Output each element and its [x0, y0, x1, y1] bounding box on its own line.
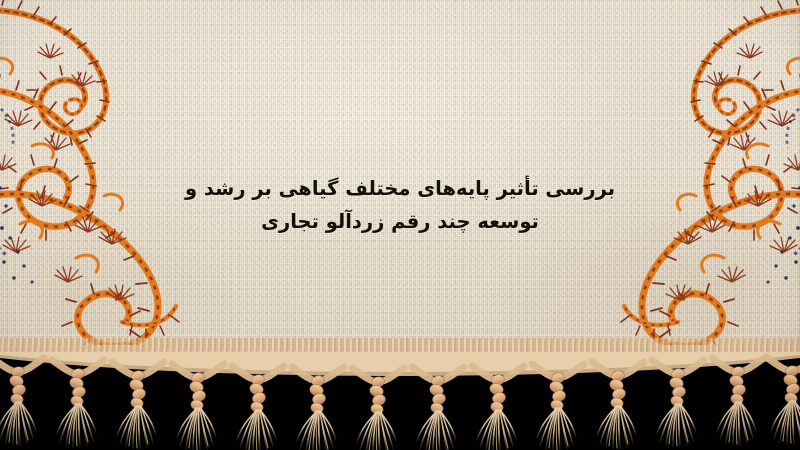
page-title: بررسی تأثیر پایه‌های مختلف گیاهی بر رشد …: [0, 172, 800, 238]
title-line-2: توسعه چند رقم زردآلو تجاری: [0, 205, 800, 238]
title-line-1: بررسی تأثیر پایه‌های مختلف گیاهی بر رشد …: [0, 172, 800, 205]
pateh-banner-image: بررسی تأثیر پایه‌های مختلف گیاهی بر رشد …: [0, 0, 800, 450]
knotted-tassel-fringe: [0, 352, 800, 450]
